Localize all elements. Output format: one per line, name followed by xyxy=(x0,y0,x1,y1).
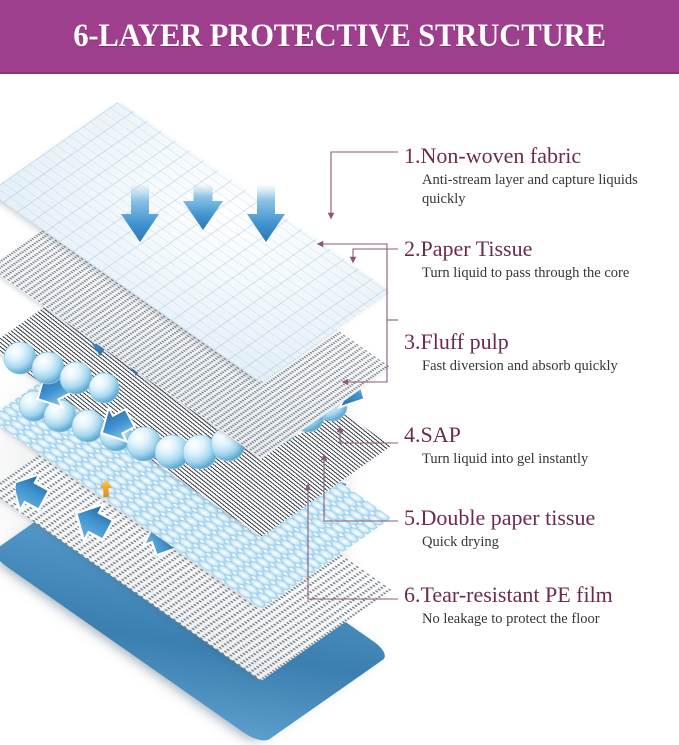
label-item-6[interactable]: 6.Tear-resistant PE film No leakage to p… xyxy=(404,582,679,629)
label-title-6: 6.Tear-resistant PE film xyxy=(404,582,679,608)
label-title-4: 4.SAP xyxy=(404,422,679,448)
label-item-2[interactable]: 2.Paper Tissue Turn liquid to pass throu… xyxy=(404,236,679,283)
label-title-1: 1.Non-woven fabric xyxy=(404,143,679,169)
label-title-5: 5.Double paper tissue xyxy=(404,505,679,531)
label-item-1[interactable]: 1.Non-woven fabric Anti-stream layer and… xyxy=(404,143,679,209)
label-title-2: 2.Paper Tissue xyxy=(404,236,679,262)
label-desc-2: Turn liquid to pass through the core xyxy=(404,262,679,283)
label-desc-5: Quick drying xyxy=(404,531,679,552)
label-item-3[interactable]: 3.Fluff pulp Fast diversion and absorb q… xyxy=(404,329,679,376)
label-desc-6: No leakage to protect the floor xyxy=(404,608,679,629)
label-desc-3: Fast diversion and absorb quickly xyxy=(404,355,679,376)
header-banner: 6-LAYER PROTECTIVE STRUCTURE xyxy=(0,0,679,74)
label-title-3: 3.Fluff pulp xyxy=(404,329,679,355)
label-item-5[interactable]: 5.Double paper tissue Quick drying xyxy=(404,505,679,552)
label-list: 1.Non-woven fabric Anti-stream layer and… xyxy=(404,74,679,646)
label-item-4[interactable]: 4.SAP Turn liquid into gel instantly xyxy=(404,422,679,469)
layer-diagram xyxy=(0,74,400,646)
label-desc-4: Turn liquid into gel instantly xyxy=(404,448,679,469)
label-desc-1: Anti-stream layer and capture liquids qu… xyxy=(404,169,679,209)
page-title: 6-LAYER PROTECTIVE STRUCTURE xyxy=(24,0,655,72)
